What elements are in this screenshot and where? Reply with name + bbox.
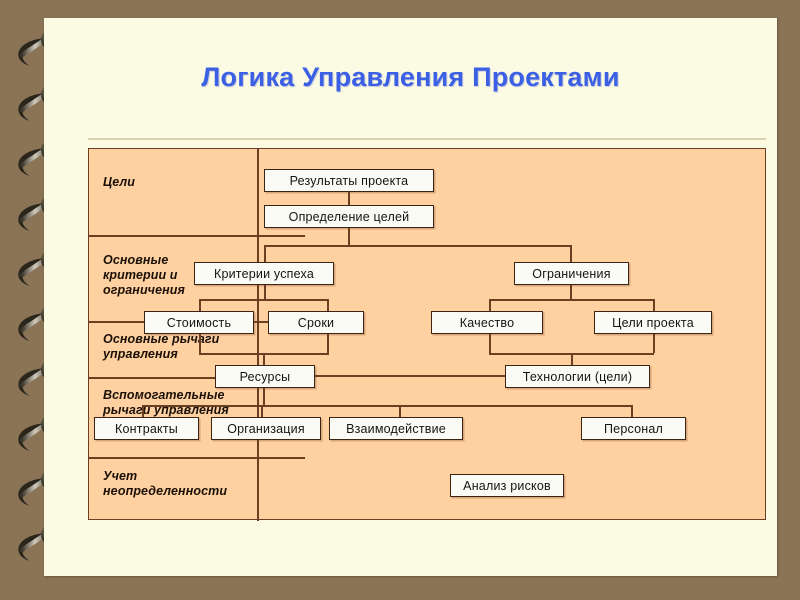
node-criteria[interactable]: Критерии успеха: [194, 262, 334, 285]
connector-projectgoals-down: [653, 333, 655, 353]
node-projectgoals[interactable]: Цели проекта: [594, 311, 712, 334]
logic-matrix: Цели Основные критерии и ограничения Осн…: [88, 148, 766, 520]
node-limits[interactable]: Ограничения: [514, 262, 629, 285]
connector-bus-to-limits: [570, 245, 572, 262]
node-cost[interactable]: Стоимость: [144, 311, 254, 334]
connector-terms-down: [327, 333, 329, 353]
node-terms[interactable]: Сроки: [268, 311, 364, 334]
connector-criteria-stem: [264, 284, 266, 299]
node-interaction[interactable]: Взаимодействие: [329, 417, 463, 440]
connector-limits-bus: [489, 299, 654, 301]
connector-bus-to-contracts: [142, 405, 144, 417]
connector-bus-to-interaction: [399, 405, 401, 417]
connector-bottom-bus: [142, 405, 632, 407]
connector-limits-stem: [570, 284, 572, 299]
node-riskanalysis[interactable]: Анализ рисков: [450, 474, 564, 497]
connector-criteria-to-cost: [199, 299, 201, 311]
connector-bus-to-personnel: [631, 405, 633, 417]
connector-resources-technology: [315, 375, 505, 377]
connector-quality-down: [489, 333, 491, 353]
connector-limits-to-quality: [489, 299, 491, 311]
node-personnel[interactable]: Персонал: [581, 417, 686, 440]
connector-goaldef-stem: [348, 227, 350, 245]
node-resources[interactable]: Ресурсы: [215, 365, 315, 388]
node-organization[interactable]: Организация: [211, 417, 321, 440]
node-contracts[interactable]: Контракты: [94, 417, 199, 440]
page-title: Логика Управления Проектами: [44, 62, 777, 93]
connector-criteria-bus: [199, 299, 329, 301]
title-divider: [88, 138, 766, 140]
node-quality[interactable]: Качество: [431, 311, 543, 334]
connector-results-goaldef: [348, 191, 350, 205]
project-management-logic-diagram: Результаты проекта Определение целей Кри…: [89, 149, 767, 521]
node-goaldef[interactable]: Определение целей: [264, 205, 434, 228]
connector-limits-to-projectgoals: [653, 299, 655, 311]
node-results[interactable]: Результаты проекта: [264, 169, 434, 192]
connector-bus-to-criteria: [264, 245, 266, 262]
node-technology[interactable]: Технологии (цели): [505, 365, 650, 388]
connector-criteria-to-terms: [327, 299, 329, 311]
connector-bus-to-organization: [261, 405, 263, 417]
connector-goaldef-bus: [264, 245, 571, 247]
connector-cost-down: [199, 333, 201, 353]
connector-resources-down: [263, 387, 265, 405]
